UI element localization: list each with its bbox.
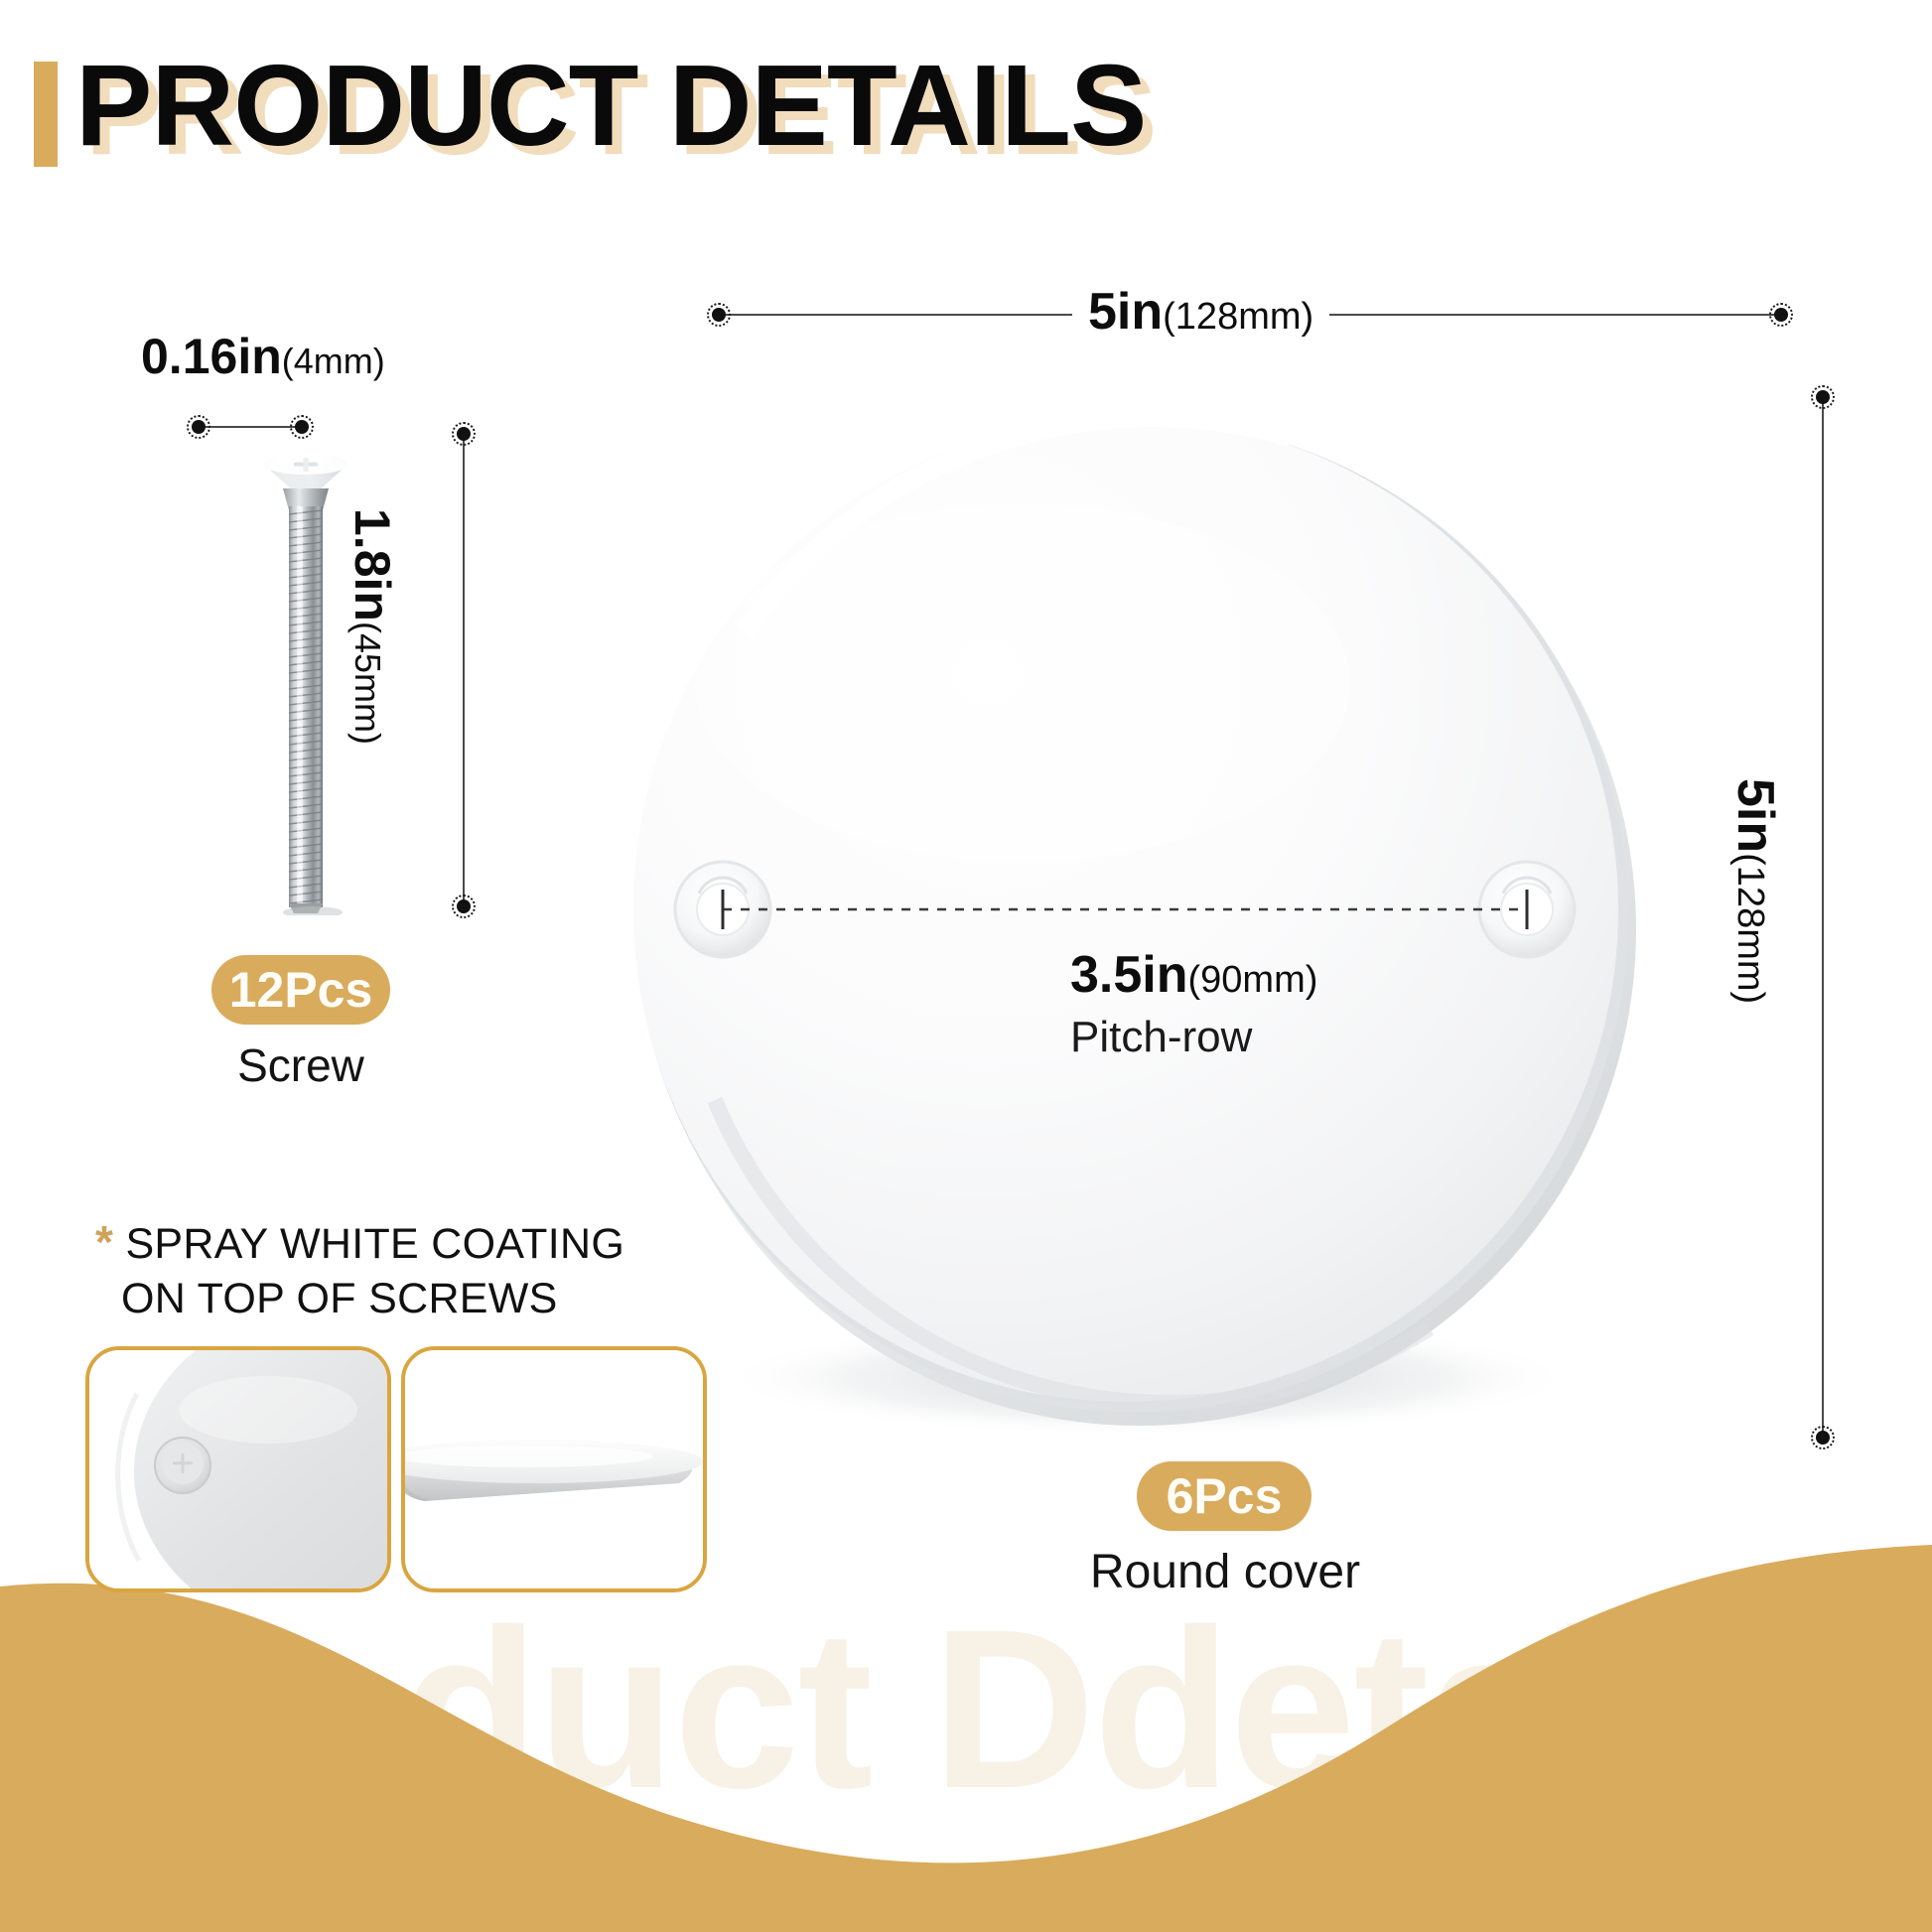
caliper-endpoint-dot-top [1816, 390, 1830, 404]
caliper-endpoint-dot-right [295, 420, 309, 434]
title-accent-bar [34, 62, 58, 167]
pitch-row-caption: Pitch-row [1070, 1013, 1317, 1062]
caliper-endpoint-dot-top [457, 427, 471, 441]
screw-length-value: 1.8in [345, 508, 400, 621]
page-title-wrap: PRODUCT DETAILS PRODUCT DETAILS [75, 44, 1146, 168]
caliper-endpoint-dot-bottom [457, 899, 471, 913]
cover-diameter-top-value: 5in [1088, 283, 1163, 341]
caliper-line [463, 434, 465, 906]
screw-length-caliper [452, 422, 476, 918]
caliper-endpoint-dot-left [712, 308, 726, 322]
screw-length-value-mm: (45mm) [347, 621, 388, 745]
inset-screw-head-painted [85, 1346, 391, 1592]
cover-diameter-side-value: 5in [1726, 778, 1784, 853]
pitch-row-value-line: 3.5in(90mm) [1070, 945, 1317, 1005]
screw-caption: Screw [211, 1038, 390, 1092]
cover-diameter-top-value-mm: (128mm) [1163, 296, 1313, 338]
note-line-1: SPRAY WHITE COATING [125, 1220, 624, 1268]
caliper-endpoint-dot-right [1774, 308, 1788, 322]
cover-quantity-badge: 6Pcs [1137, 1461, 1311, 1531]
pitch-row-label: 3.5in(90mm) Pitch-row [1070, 945, 1317, 1062]
screw-width-value: 0.16in [141, 329, 282, 384]
pitch-row-value-mm: (90mm) [1188, 959, 1318, 1001]
caliper-line [199, 426, 302, 428]
cover-diameter-top-label: 5in(128mm) [1072, 282, 1329, 342]
cover-diameter-side-caliper [1811, 385, 1835, 1449]
caliper-endpoint-dot-left [192, 420, 206, 434]
asterisk-icon: * [95, 1216, 113, 1268]
pitch-row-value: 3.5in [1070, 946, 1188, 1004]
screw-width-caliper [187, 415, 314, 439]
page-title: PRODUCT DETAILS [75, 44, 1146, 168]
inset-a-image [89, 1350, 387, 1588]
screw-length-label: 1.8in(45mm) [344, 508, 401, 745]
spray-coating-note: * SPRAY WHITE COATING ON TOP OF SCREWS [95, 1213, 624, 1326]
infographic-canvas: Product Ddetails PRODUCT DETAILS PRODUCT… [0, 0, 1932, 1932]
caliper-line [1822, 397, 1824, 1438]
cover-caption: Round cover [1052, 1545, 1398, 1599]
screw-width-label: 0.16in(4mm) [141, 328, 385, 385]
cover-diameter-side-value-mm: (128mm) [1729, 853, 1771, 1004]
screw-quantity-badge: 12Pcs [211, 955, 390, 1025]
cover-diameter-side-label: 5in(128mm) [1725, 764, 1785, 1018]
note-line-2: ON TOP OF SCREWS [95, 1272, 558, 1326]
screw-illustration [261, 449, 350, 915]
caliper-endpoint-dot-bottom [1816, 1431, 1830, 1445]
screw-width-value-mm: (4mm) [282, 341, 385, 381]
round-cover-illustration [596, 385, 1668, 1457]
